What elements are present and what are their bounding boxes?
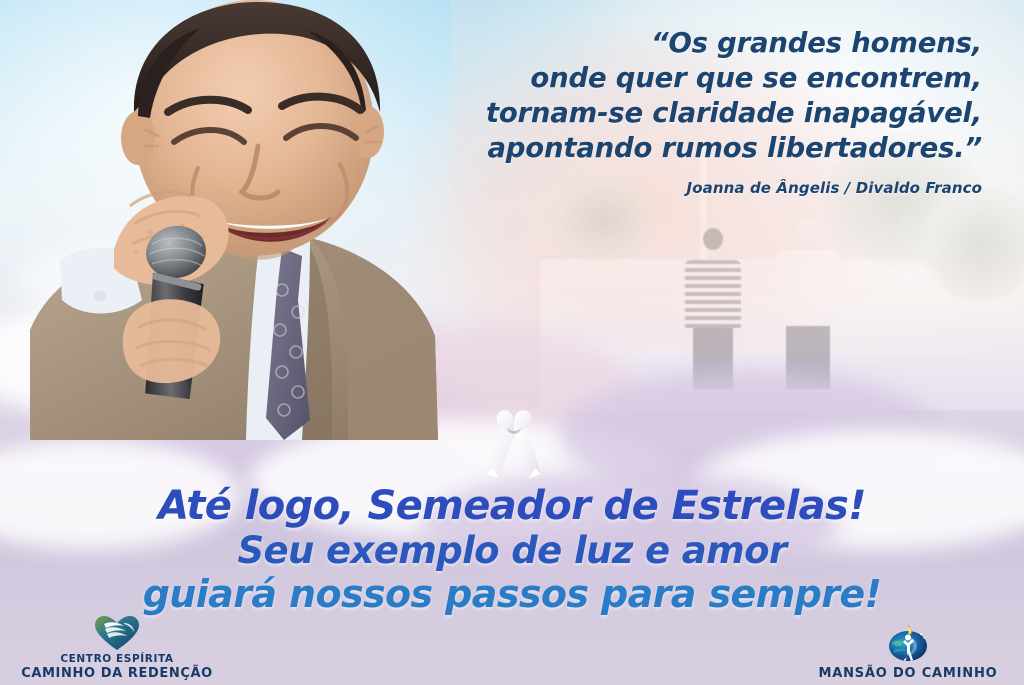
logo-right-text: MANSÃO DO CAMINHO <box>818 666 997 681</box>
headline-line-2: Seu exemplo de luz e amor <box>0 532 1024 569</box>
quote-block: “Os grandes homens, onde quer que se enc… <box>422 26 982 197</box>
quote-line-4: apontando rumos libertadores.” <box>422 131 982 166</box>
quote-line-3: tornam-se claridade inapagável, <box>422 96 982 131</box>
logo-left-line-1: CENTRO ESPÍRITA <box>21 653 213 665</box>
portrait-divaldo-franco <box>10 0 455 440</box>
memorial-poster: “Os grandes homens, onde quer que se enc… <box>0 0 1024 685</box>
logo-left-text: CENTRO ESPÍRITA CAMINHO DA REDENÇÃO <box>21 653 213 681</box>
logo-right-line-1: MANSÃO DO CAMINHO <box>818 666 997 681</box>
headline-line-1: Até logo, Semeador de Estrelas! <box>0 486 1024 526</box>
logo-left-line-2: CAMINHO DA REDENÇÃO <box>21 666 213 681</box>
quote-line-1: “Os grandes homens, <box>422 26 982 61</box>
globe-figure-flame-icon <box>886 624 930 664</box>
heart-hands-icon <box>94 615 140 651</box>
headline-line-3: guiará nossos passos para sempre! <box>0 575 1024 613</box>
mourning-ribbon-icon <box>483 408 545 484</box>
headline-block: Até logo, Semeador de Estrelas! Seu exem… <box>0 486 1024 613</box>
logo-centro-espirita-caminho-da-redencao: CENTRO ESPÍRITA CAMINHO DA REDENÇÃO <box>12 615 222 681</box>
quote-attribution: Joanna de Ângelis / Divaldo Franco <box>422 179 982 197</box>
logo-mansao-do-caminho: MANSÃO DO CAMINHO <box>798 624 1018 681</box>
quote-line-2: onde quer que se encontrem, <box>422 61 982 96</box>
